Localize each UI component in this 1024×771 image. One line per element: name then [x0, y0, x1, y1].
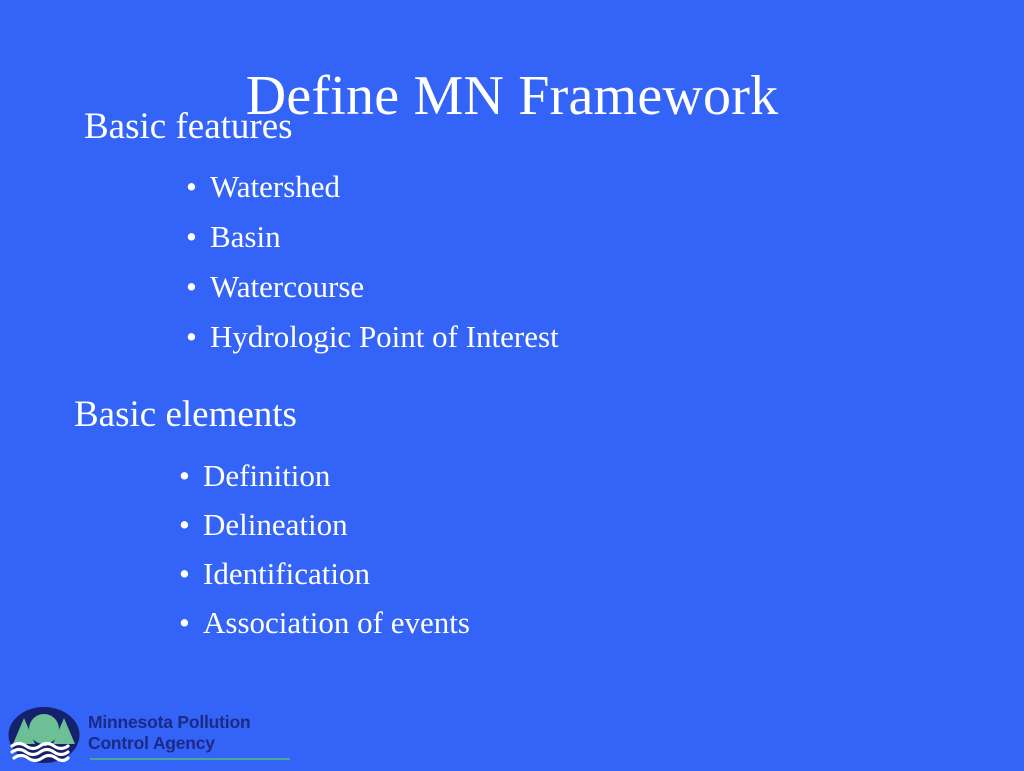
content-group-basic-features: Basic features • Watershed • Basin • Wat…	[0, 108, 1024, 352]
list-item-label: Identification	[203, 558, 370, 589]
list-item: • Delineation	[179, 509, 1024, 540]
bullet-dot-icon: •	[179, 607, 203, 638]
mpca-logo-rule	[90, 758, 290, 760]
group-heading: Basic features	[84, 108, 1024, 145]
slide-body: Basic features • Watershed • Basin • Wat…	[0, 108, 1024, 656]
list-item-label: Basin	[210, 221, 281, 252]
bullet-list: • Definition • Delineation • Identificat…	[179, 460, 1024, 638]
list-item: • Hydrologic Point of Interest	[186, 321, 1024, 352]
list-item: • Watercourse	[186, 271, 1024, 302]
list-item-label: Hydrologic Point of Interest	[210, 321, 559, 352]
mpca-logo-text: Minnesota Pollution Control Agency	[88, 712, 250, 753]
list-item-label: Association of events	[203, 607, 470, 638]
bullet-dot-icon: •	[186, 171, 210, 202]
bullet-dot-icon: •	[186, 271, 210, 302]
mpca-logo-line-2: Control Agency	[88, 733, 250, 754]
mpca-logo-icon	[8, 704, 80, 766]
bullet-dot-icon: •	[179, 460, 203, 491]
list-item: • Identification	[179, 558, 1024, 589]
bullet-dot-icon: •	[179, 509, 203, 540]
content-group-basic-elements: Basic elements • Definition • Delineatio…	[0, 396, 1024, 638]
bullet-list: • Watershed • Basin • Watercourse • Hydr…	[186, 171, 1024, 352]
bullet-dot-icon: •	[186, 321, 210, 352]
list-item: • Basin	[186, 221, 1024, 252]
list-item-label: Watercourse	[210, 271, 364, 302]
bullet-dot-icon: •	[186, 221, 210, 252]
mpca-logo-line-1: Minnesota Pollution	[88, 712, 250, 733]
group-heading: Basic elements	[74, 396, 1024, 433]
list-item-label: Definition	[203, 460, 330, 491]
bullet-dot-icon: •	[179, 558, 203, 589]
list-item: • Watershed	[186, 171, 1024, 202]
list-item: • Definition	[179, 460, 1024, 491]
slide: Define MN Framework Basic features • Wat…	[0, 0, 1024, 768]
mpca-logo: Minnesota Pollution Control Agency	[8, 700, 308, 768]
list-item-label: Delineation	[203, 509, 348, 540]
list-item-label: Watershed	[210, 171, 340, 202]
list-item: • Association of events	[179, 607, 1024, 638]
